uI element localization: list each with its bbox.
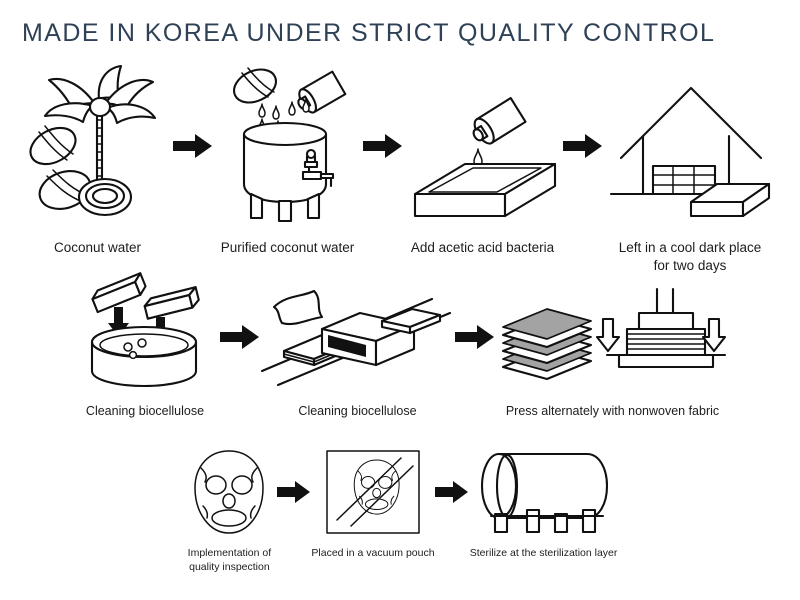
warehouse-storage-icon: [603, 66, 778, 226]
conveyor-machine-icon: [260, 285, 455, 389]
process-step-purified-coconut-water: Purified coconut water: [213, 66, 363, 257]
process-step-add-acetic-acid-bacteria: Add acetic acid bacteria: [403, 66, 563, 257]
step-caption-line-1: Implementation of: [188, 547, 271, 561]
step-caption: Press alternately with nonwoven fabric: [506, 403, 719, 420]
step-caption-line-2: for two days: [619, 257, 762, 275]
step-caption: Implementation of quality inspection: [188, 547, 271, 575]
washing-basin-icon: [70, 285, 220, 389]
step-caption: Placed in a vacuum pouch: [311, 547, 434, 561]
right-arrow-icon: [563, 66, 603, 226]
process-step-cool-dark-place: Left in a cool dark place for two days: [603, 66, 778, 275]
process-step-vacuum-pouch: Placed in a vacuum pouch: [311, 448, 434, 561]
process-step-cleaning-basin: Cleaning biocellulose: [70, 285, 220, 420]
process-step-sterilization: Sterilize at the sterilization layer: [469, 448, 619, 561]
vacuum-pouch-icon: [321, 448, 425, 536]
purification-tank-icon: [213, 66, 363, 226]
process-step-quality-inspection: Implementation of quality inspection: [181, 448, 277, 575]
right-arrow-icon: [277, 448, 311, 536]
process-row-2: Cleaning biocellulose: [0, 285, 800, 420]
process-step-cleaning-conveyor: Cleaning biocellulose: [260, 285, 455, 420]
sterilization-autoclave-icon: [469, 448, 619, 536]
step-caption: Add acetic acid bacteria: [411, 239, 554, 257]
step-caption-line-2: quality inspection: [188, 561, 271, 575]
process-step-press-nonwoven: Press alternately with nonwoven fabric: [495, 285, 730, 420]
process-row-3: Implementation of quality inspection: [0, 448, 800, 575]
process-row-1: Coconut water: [0, 66, 800, 275]
step-caption: Cleaning biocellulose: [86, 403, 204, 420]
sheet-mask-inspection-icon: [181, 448, 277, 536]
culture-tray-icon: [403, 66, 563, 226]
right-arrow-icon: [435, 448, 469, 536]
step-caption: Left in a cool dark place for two days: [619, 239, 762, 275]
coconut-palm-tree-icon: [23, 66, 173, 226]
press-stack-icon: [495, 285, 730, 389]
step-caption: Sterilize at the sterilization layer: [470, 547, 618, 561]
right-arrow-icon: [220, 285, 260, 389]
right-arrow-icon: [173, 66, 213, 226]
step-caption: Cleaning biocellulose: [298, 403, 416, 420]
step-caption: Coconut water: [54, 239, 141, 257]
header-bar: MADE IN KOREA UNDER STRICT QUALITY CONTR…: [0, 0, 800, 66]
page-title: MADE IN KOREA UNDER STRICT QUALITY CONTR…: [22, 19, 715, 48]
process-step-coconut-water: Coconut water: [23, 66, 173, 257]
step-caption: Purified coconut water: [221, 239, 355, 257]
step-caption-line-1: Left in a cool dark place: [619, 239, 762, 257]
right-arrow-icon: [363, 66, 403, 226]
right-arrow-icon: [455, 285, 495, 389]
